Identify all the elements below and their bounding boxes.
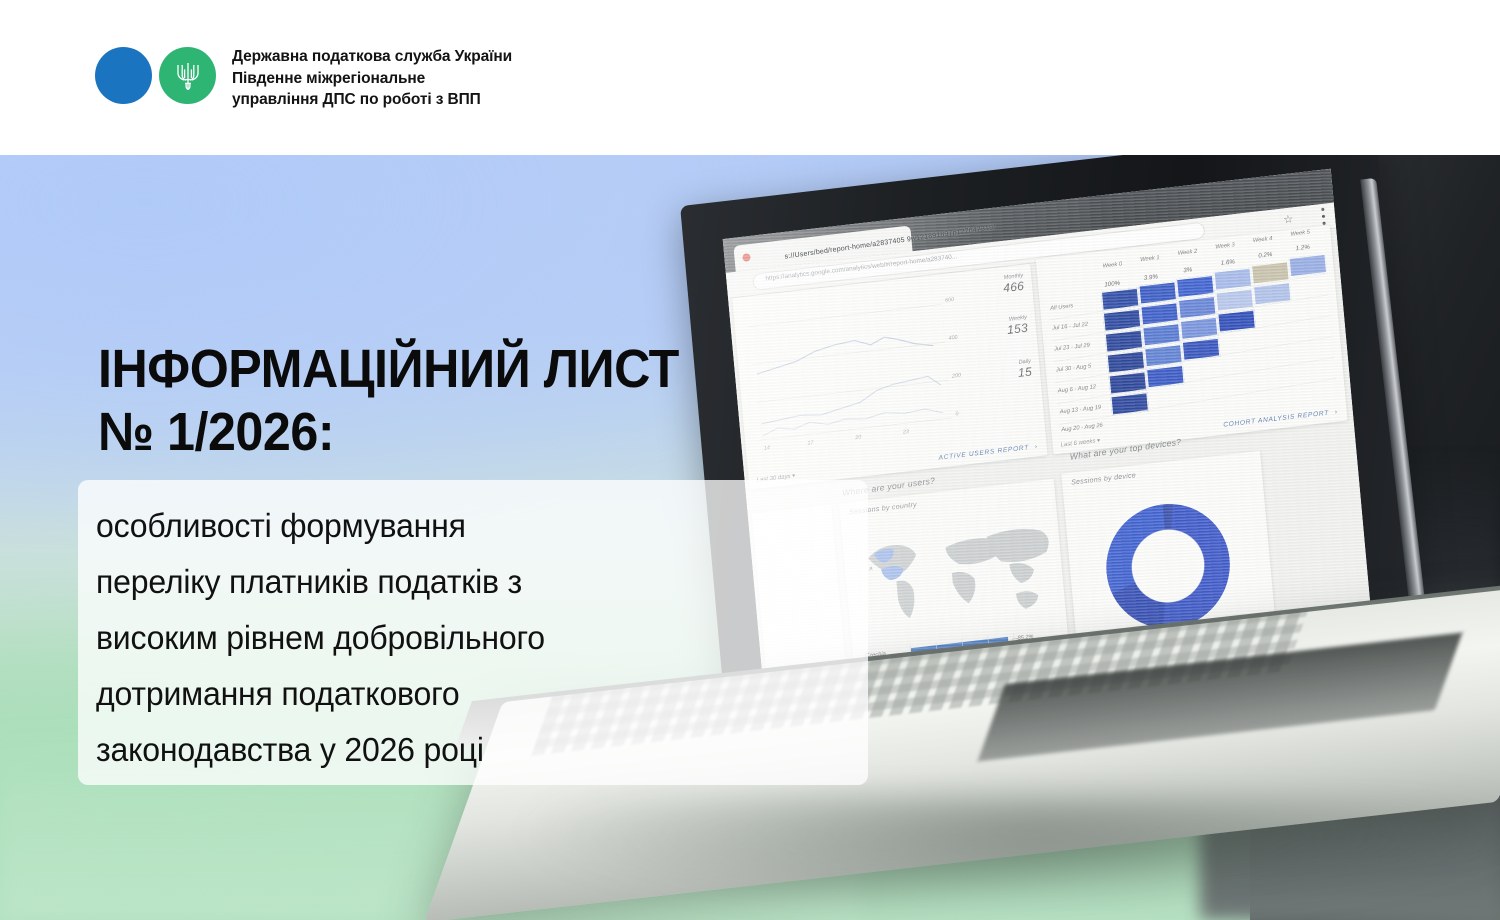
org-line-1: Державна податкова служба України [232,48,512,65]
logo-green-circle-icon [159,47,216,104]
svg-text:A: A [868,566,874,573]
device-donut-chart [1101,497,1235,635]
site-header: Державна податкова служба УкраїниПівденн… [0,0,1500,155]
x-tick-4: 23 [903,429,910,436]
cohort-gridlines [1036,225,1348,454]
x-tick-3: 20 [855,434,862,441]
page-subtitle: особливості формування переліку платникі… [96,498,833,778]
bookmark-star-icon[interactable]: ☆ [1283,212,1294,228]
x-tick-1: 14 [764,445,771,452]
browser-menu-icon[interactable] [1321,208,1326,225]
org-line-3: управління ДПС по роботі з ВПП [232,91,481,108]
logo-blue-circle-icon [95,47,152,104]
tab-favicon-icon [742,253,751,262]
org-line-2: Південне міжрегіональне [232,70,425,87]
x-tick-2: 17 [807,440,814,447]
laptop-drop-shadow [510,795,1500,915]
active-users-card: Monthly 466 Weekly 153 Daily 15 600 400 … [732,264,1047,490]
cohort-card: Week 0 Week 1 Week 2 Week 3 Week 4 Week … [1036,225,1348,454]
chevron-right-icon-2: › [1335,409,1339,416]
logo [95,47,216,104]
active-users-linechart [732,264,1047,490]
device-card-title: Sessions by device [1071,458,1261,487]
chevron-right-icon: › [1035,443,1039,450]
page-title: ІНФОРМАЦІЙНИЙ ЛИСТ № 1/2026: [98,338,679,464]
org-name: Державна податкова служба УкраїниПівденн… [232,46,512,111]
ukrainian-trident-icon [175,60,201,92]
cohort-heatmap: Week 0 Week 1 Week 2 Week 3 Week 4 Week … [1036,225,1348,454]
